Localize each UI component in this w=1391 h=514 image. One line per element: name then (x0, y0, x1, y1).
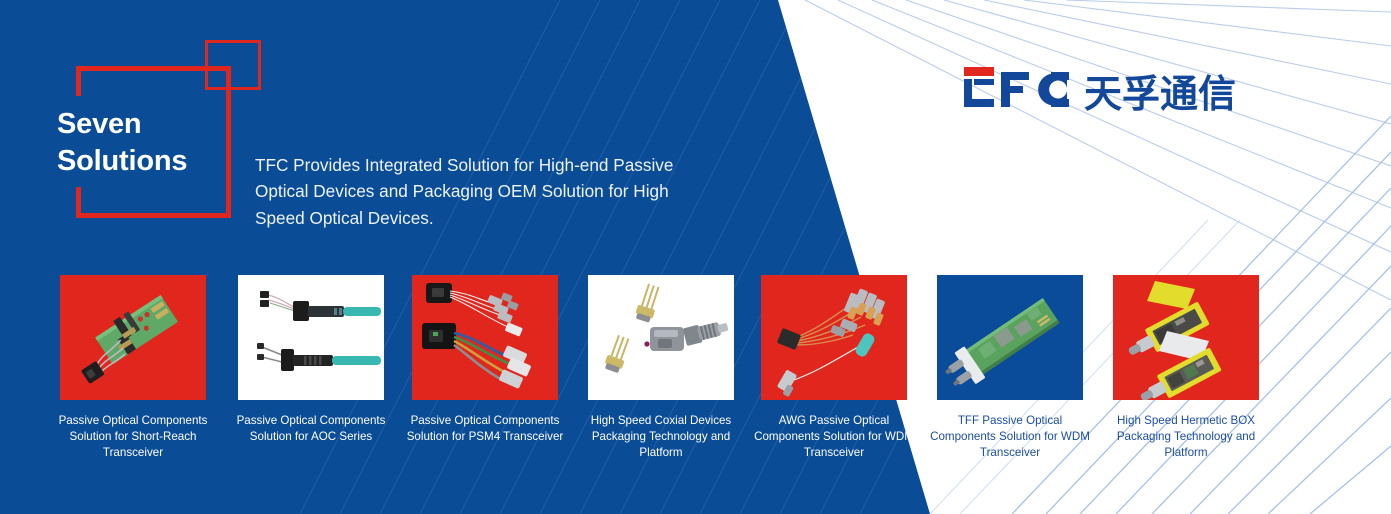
card-image-frame (238, 275, 384, 400)
tff-green-pcb-svg (937, 275, 1083, 400)
solution-card-row: Passive Optical Components Solution for … (0, 275, 1391, 475)
page-title-line-2: Solutions (57, 143, 247, 180)
pcb-transceiver-board-svg (60, 275, 206, 400)
solution-card[interactable]: TFF Passive Optical Components Solution … (937, 275, 1083, 461)
card-image-frame (60, 275, 206, 400)
deco-frame-left-lower-bar (76, 187, 81, 218)
psm4-fanout-cable-svg (412, 275, 558, 400)
page-title: Seven Solutions (57, 106, 247, 180)
psm4-fanout-cable-image (412, 275, 558, 400)
solution-card[interactable]: High Speed Hermetic BOX Packaging Techno… (1113, 275, 1259, 461)
card-caption: High Speed Hermetic BOX Packaging Techno… (1106, 413, 1266, 461)
card-image-frame (1113, 275, 1259, 400)
solution-card[interactable]: Passive Optical Components Solution for … (238, 275, 384, 445)
coaxial-to-can-devices-image (588, 275, 734, 400)
tfc-logomark-svg (963, 67, 1071, 112)
deco-frame-left-upper-bar (76, 66, 81, 96)
card-caption: Passive Optical Components Solution for … (53, 413, 213, 461)
card-image-frame (761, 275, 907, 400)
card-caption: AWG Passive Optical Components Solution … (754, 413, 914, 461)
banner-root: Seven Solutions TFC Provides Integrated … (0, 0, 1391, 514)
solution-card[interactable]: AWG Passive Optical Components Solution … (761, 275, 907, 461)
solution-card[interactable]: High Speed Coxial Devices Packaging Tech… (588, 275, 734, 461)
aoc-connector-pair-image (238, 275, 384, 400)
hermetic-box-packages-svg (1113, 275, 1259, 400)
solution-card[interactable]: Passive Optical Components Solution for … (60, 275, 206, 461)
awg-fanout-assembly-image (761, 275, 907, 400)
solution-card[interactable]: Passive Optical Components Solution for … (412, 275, 558, 445)
brand-logo[interactable]: 天孚通信 (963, 66, 1236, 112)
deco-frame-small-square (205, 40, 261, 90)
card-image-frame (412, 275, 558, 400)
intro-paragraph: TFC Provides Integrated Solution for Hig… (255, 152, 705, 231)
awg-fanout-assembly-svg (761, 275, 907, 400)
tfc-logomark-icon (963, 67, 1071, 112)
coaxial-to-can-devices-svg (588, 275, 734, 400)
aoc-connector-pair-svg (238, 275, 384, 400)
pcb-transceiver-board-image (60, 275, 206, 400)
card-image-frame (588, 275, 734, 400)
card-caption: TFF Passive Optical Components Solution … (930, 413, 1090, 461)
brand-logo-chinese-text: 天孚通信 (1084, 75, 1236, 113)
hermetic-box-packages-image (1113, 275, 1259, 400)
page-title-line-1: Seven (57, 108, 141, 140)
deco-frame-bottom-bar (76, 213, 231, 218)
card-caption: Passive Optical Components Solution for … (405, 413, 565, 445)
card-image-frame (937, 275, 1083, 400)
card-caption: Passive Optical Components Solution for … (231, 413, 391, 445)
card-caption: High Speed Coxial Devices Packaging Tech… (581, 413, 741, 461)
tff-green-pcb-image (937, 275, 1083, 400)
